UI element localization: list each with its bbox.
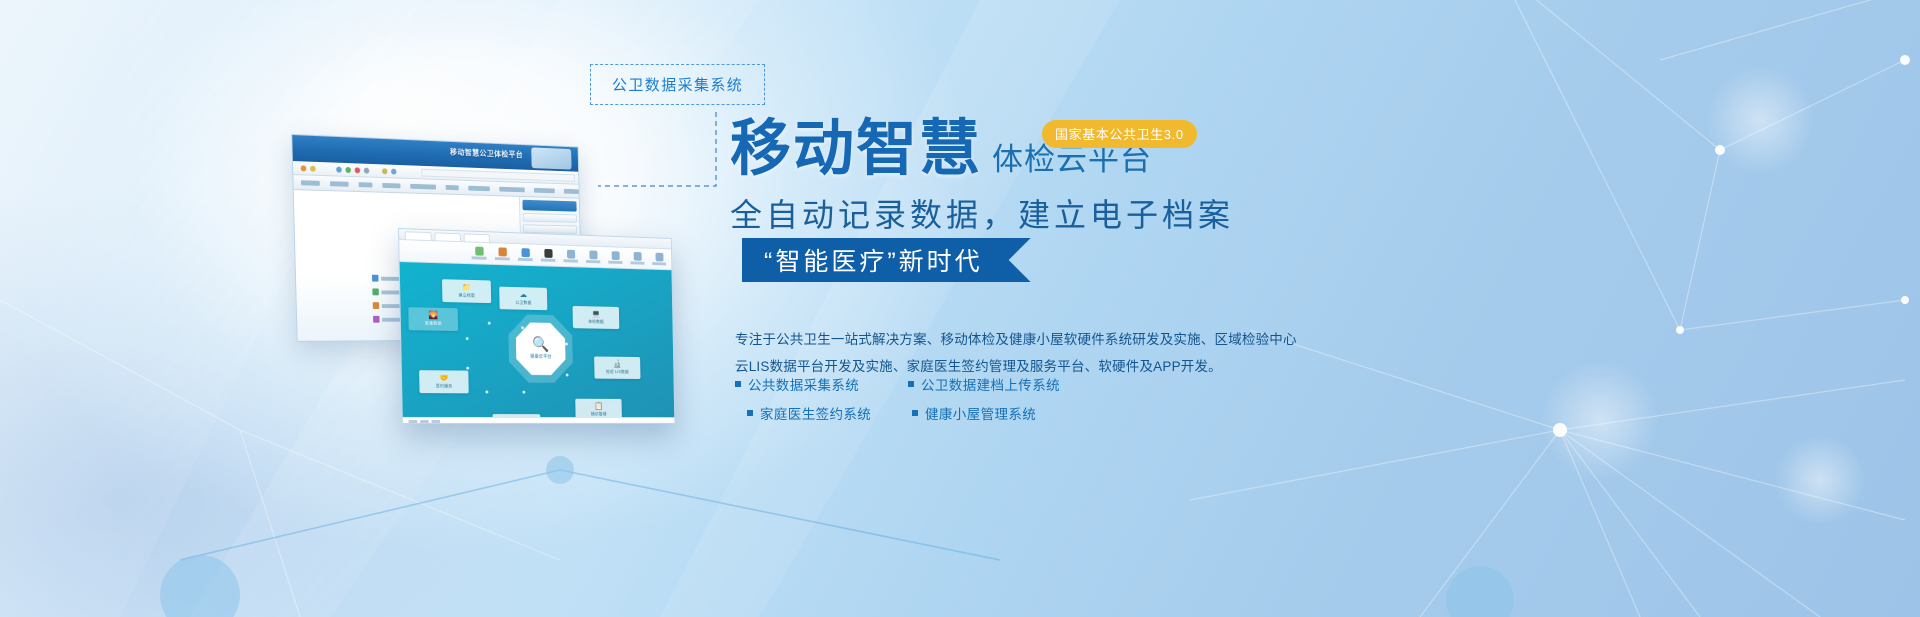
callout-connector <box>0 0 1920 617</box>
bullet-icon <box>912 410 918 416</box>
feature-item[interactable]: 健康小屋管理系统 <box>908 403 1060 423</box>
feature-item[interactable]: 公共数据采集系统 <box>735 374 890 394</box>
feature-item-label: 公共数据采集系统 <box>748 374 859 394</box>
feature-list: 公共数据采集系统 公卫数据建档上传系统 家庭医生签约系统 健康小屋管理系统 <box>735 374 1060 423</box>
hero-title-main: 移动智慧 <box>730 118 982 179</box>
promo-banner: 移动智慧公卫体检平台 <box>0 0 1920 617</box>
status-badge: 国家基本公共卫生3.0 <box>1042 120 1197 148</box>
description-block: 专注于公共卫生一站式解决方案、移动体检及健康小屋软硬件系统研发及实施、区域检验中… <box>735 326 1310 380</box>
hero-subtitle: 全自动记录数据，建立电子档案 <box>730 196 1234 234</box>
status-badge-text: 国家基本公共卫生3.0 <box>1055 127 1184 142</box>
callout-label: 公卫数据采集系统 <box>590 64 765 105</box>
feature-item-label: 健康小屋管理系统 <box>925 403 1036 423</box>
bullet-icon <box>747 410 753 416</box>
callout-text: 公卫数据采集系统 <box>612 77 743 94</box>
feature-item-label: 公卫数据建档上传系统 <box>921 374 1060 394</box>
bullet-icon <box>908 381 914 387</box>
description-line-1: 专注于公共卫生一站式解决方案、移动体检及健康小屋软硬件系统研发及实施、区域检验中… <box>735 326 1310 353</box>
bullet-icon <box>735 381 741 387</box>
hero-title-sub: 体检云平台 <box>992 144 1152 179</box>
feature-item[interactable]: 家庭医生签约系统 <box>735 403 890 423</box>
feature-item[interactable]: 公卫数据建档上传系统 <box>908 374 1060 394</box>
hero-ribbon: “智能医疗”新时代 <box>742 238 1031 282</box>
feature-item-label: 家庭医生签约系统 <box>760 403 871 423</box>
hero-ribbon-text: “智能医疗”新时代 <box>764 242 983 278</box>
